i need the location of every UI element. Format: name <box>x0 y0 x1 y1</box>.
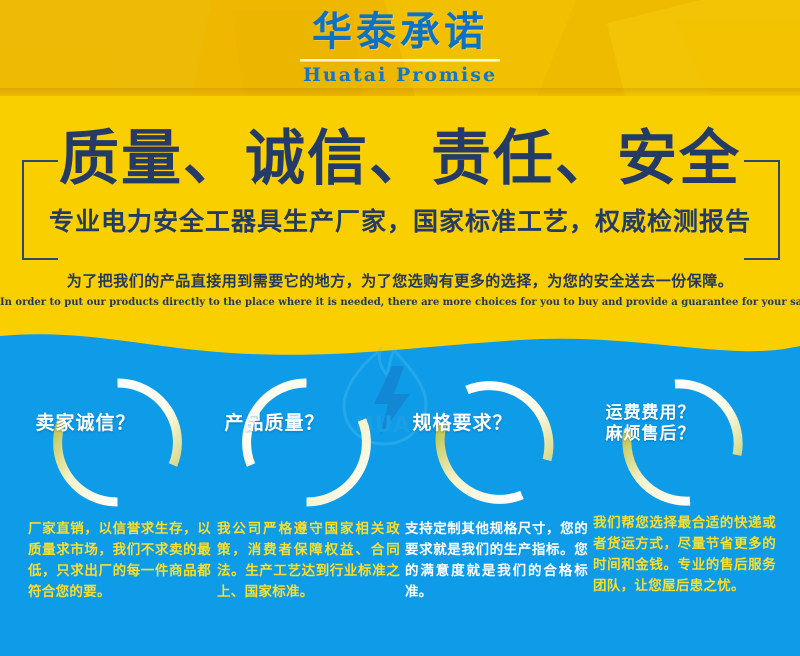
hero-headline: 质量、诚信、责任、安全 <box>0 124 800 194</box>
promise-banner: 华泰承诺 Huatai Promise 质量、诚信、责任、安全 专业电力安全工器… <box>0 0 800 656</box>
brand-block: 华泰承诺 Huatai Promise <box>0 6 800 86</box>
header-shadow <box>0 88 800 96</box>
ring-title: 卖家诚信？ <box>18 356 153 491</box>
hero-tagline-cn: 为了把我们的产品直接用到需要它的地方，为了您选购有更多的选择，为您的安全送去一份… <box>0 270 800 291</box>
brand-divider <box>300 59 500 61</box>
brand-title-cn: 华泰承诺 <box>0 6 800 58</box>
feature-body: 厂家直销，以信誉求生存，以质量求市场，我们不求卖的最低，只求出厂的每一件商品都符… <box>28 519 211 603</box>
header-band: 华泰承诺 Huatai Promise <box>0 0 800 96</box>
feature-column: 运费费用？ 麻烦售后？ 我们帮您选择最合适的快递或者货运方式，尽量节省更多的时间… <box>583 356 783 656</box>
feature-columns: 卖家诚信？ 厂家直销，以信誉求生存，以质量求市场，我们不求卖的最低，只求出厂的每… <box>0 356 800 656</box>
feature-body: 我们帮您选择最合适的快递或者货运方式，尽量节省更多的时间和金钱。专业的售后服务团… <box>593 513 776 597</box>
hero-subline: 专业电力安全工器具生产厂家，国家标准工艺，权威检测报告 <box>0 205 800 239</box>
ring-title: 运费费用？ 麻烦售后？ <box>583 356 718 491</box>
ring-title-line-1: 运费费用？ <box>606 403 696 424</box>
ring-title: 规格要求？ <box>395 356 530 491</box>
feature-body: 我公司严格遵守国家相关政策，消费者保障权益、合同法。生产工艺达到行业标准之上、国… <box>217 519 400 603</box>
ring-title-line-2: 麻烦售后？ <box>606 424 696 445</box>
feature-column: 卖家诚信？ 厂家直销，以信誉求生存，以质量求市场，我们不求卖的最低，只求出厂的每… <box>18 356 218 656</box>
hero-tagline-en: In order to put our products directly to… <box>0 297 800 308</box>
brand-title-en: Huatai Promise <box>0 64 800 86</box>
feature-body: 支持定制其他规格尺寸，您的要求就是我们的生产指标。您的满意度就是我们的合格标准。 <box>405 519 588 603</box>
ring-title: 产品质量？ <box>207 356 342 491</box>
feature-column: 产品质量？ 我公司严格遵守国家相关政策，消费者保障权益、合同法。生产工艺达到行业… <box>207 356 407 656</box>
feature-column: 规格要求？ 支持定制其他规格尺寸，您的要求就是我们的生产指标。您的满意度就是我们… <box>395 356 595 656</box>
